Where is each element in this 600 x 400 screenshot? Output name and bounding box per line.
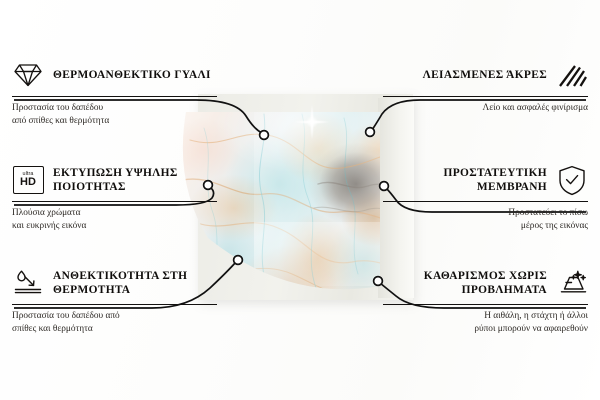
feature-subtitle-line-2: σπίθες και θερμότητα (12, 323, 217, 336)
feature-title: ΕΚΤΥΠΩΣΗ ΥΨΗΛΗΣ ΠΟΙΟΤΗΤΑΣ (53, 166, 217, 195)
feature-header: ultra HD ΕΚΤΥΠΩΣΗ ΥΨΗΛΗΣ ΠΟΙΟΤΗΤΑΣ (12, 163, 217, 197)
feature-title: ΛΕΙΑΣΜΕΝΕΣ ΆΚΡΕΣ (423, 68, 547, 82)
feature-subtitle-line-1: Προστασία του δαπέδου (12, 102, 217, 115)
feature-block-easy-cleaning: ΚΑΘΑΡΙΣΜΟΣ ΧΩΡΙΣ ΠΡΟΒΛΗΜΑΤΑ Η αιθάλη, η … (383, 266, 588, 336)
diamond-icon (12, 59, 44, 91)
infographic-stage: ΘΕΡΜΟΑΝΘΕΚΤΙΚΟ ΓΥΑΛΙ Προστασία του δαπέδ… (0, 0, 600, 400)
feature-divider (383, 96, 588, 97)
feature-subtitle: Προστασία του δαπέδου από σπίθες και θερ… (12, 102, 217, 128)
feature-block-heat-durability: ΑΝΘΕΚΤΙΚΟΤΗΤΑ ΣΤΗ ΘΕΡΜΟΤΗΤΑ Προστασία το… (12, 266, 217, 336)
flame-deflect-icon (12, 267, 44, 299)
feature-subtitle: Προστασία του δαπέδου από σπίθες και θερ… (12, 310, 217, 336)
feature-header: ΠΡΟΣΤΑΤΕΥΤΙΚΗ ΜΕΜΒΡΑΝΗ (383, 163, 588, 197)
feature-block-polished-edges: ΛΕΙΑΣΜΕΝΕΣ ΆΚΡΕΣ Λείο και ασφαλές φινίρι… (383, 58, 588, 115)
feature-header: ΘΕΡΜΟΑΝΘΕΚΤΙΚΟ ΓΥΑΛΙ (12, 58, 217, 92)
feature-subtitle-line-2: από σπίθες και θερμότητα (12, 115, 217, 128)
feature-header: ΑΝΘΕΚΤΙΚΟΤΗΤΑ ΣΤΗ ΘΕΡΜΟΤΗΤΑ (12, 266, 217, 300)
feature-divider (383, 201, 588, 202)
feature-divider (12, 96, 217, 97)
ultra-hd-badge-icon: ultra HD (12, 164, 44, 196)
feature-subtitle-line-1: Η αιθάλη, η στάχτη ή άλλοι (383, 310, 588, 323)
feature-subtitle-line-2: και ευκρινής εικόνα (12, 220, 217, 233)
feature-subtitle-line-2: ρύποι μπορούν να αφαιρεθούν (383, 323, 588, 336)
feature-block-protective-film: ΠΡΟΣΤΑΤΕΥΤΙΚΗ ΜΕΜΒΡΑΝΗ Προστατεύει το πί… (383, 163, 588, 233)
ultra-hd-main-label: HD (20, 177, 36, 188)
polished-edge-icon (556, 59, 588, 91)
feature-subtitle: Πλούσια χρώματα και ευκρινής εικόνα (12, 207, 217, 233)
feature-divider (383, 304, 588, 305)
feature-title: ΑΝΘΕΚΤΙΚΟΤΗΤΑ ΣΤΗ ΘΕΡΜΟΤΗΤΑ (53, 269, 217, 298)
feature-header: ΚΑΘΑΡΙΣΜΟΣ ΧΩΡΙΣ ΠΡΟΒΛΗΜΑΤΑ (383, 266, 588, 300)
feature-subtitle: Η αιθάλη, η στάχτη ή άλλοι ρύποι μπορούν… (383, 310, 588, 336)
feature-divider (12, 304, 217, 305)
easy-clean-sparkle-icon (556, 267, 588, 299)
feature-subtitle: Προστατεύει το πίσω μέρος της εικόνας (383, 207, 588, 233)
feature-subtitle-line-2: μέρος της εικόνας (383, 220, 588, 233)
feature-title: ΘΕΡΜΟΑΝΘΕΚΤΙΚΟ ΓΥΑΛΙ (53, 68, 211, 82)
feature-block-heat-resistant-glass: ΘΕΡΜΟΑΝΘΕΚΤΙΚΟ ΓΥΑΛΙ Προστασία του δαπέδ… (12, 58, 217, 128)
feature-title: ΠΡΟΣΤΑΤΕΥΤΙΚΗ ΜΕΜΒΡΑΝΗ (383, 166, 547, 195)
feature-subtitle-line-1: Προστασία του δαπέδου από (12, 310, 217, 323)
feature-subtitle-line-1: Πλούσια χρώματα (12, 207, 217, 220)
feature-divider (12, 201, 217, 202)
feature-title: ΚΑΘΑΡΙΣΜΟΣ ΧΩΡΙΣ ΠΡΟΒΛΗΜΑΤΑ (383, 269, 547, 298)
feature-block-high-quality-print: ultra HD ΕΚΤΥΠΩΣΗ ΥΨΗΛΗΣ ΠΟΙΟΤΗΤΑΣ Πλούσ… (12, 163, 217, 233)
feature-header: ΛΕΙΑΣΜΕΝΕΣ ΆΚΡΕΣ (383, 58, 588, 92)
feature-subtitle-line-1: Λείο και ασφαλές φινίρισμα (383, 102, 588, 115)
feature-subtitle-line-1: Προστατεύει το πίσω (383, 207, 588, 220)
feature-subtitle: Λείο και ασφαλές φινίρισμα (383, 102, 588, 115)
shield-check-icon (556, 164, 588, 196)
